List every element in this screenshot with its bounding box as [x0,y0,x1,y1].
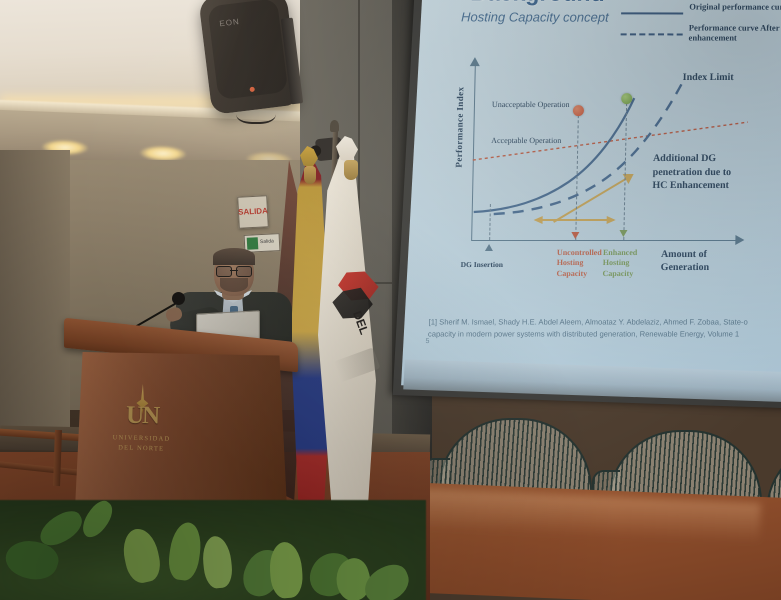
dg-insertion-label: DG Insertion [461,260,504,269]
enhanced-hc-arrow-icon [619,230,627,237]
original-performance-curve [474,98,635,212]
citation-line-2: capacity in modern power systems with di… [428,329,781,341]
acceptable-operation-label: Acceptable Operation [491,136,561,145]
x-axis-title: Amount ofGeneration [661,248,710,274]
emergency-sign-text: Salida [260,240,274,246]
university-logo: UN UNIVERSIDADDEL NORTE [113,387,171,450]
legend-label: Original performance curve [689,2,781,12]
dg-insertion-arrow-icon [485,244,493,251]
span-arrow-right-icon [607,216,616,224]
presentation-slide: Background Hosting Capacity concept Orig… [401,0,781,398]
index-limit-label: Index Limit [683,72,734,83]
legend-item: Performance curve After HC enhancement [620,24,781,52]
slide-title: Background [470,0,605,7]
projection-screen: Background Hosting Capacity concept Orig… [401,0,781,398]
hosting-capacity-chart: Performance Index [432,64,781,294]
speaker-cable [236,100,276,124]
legend-swatch-solid [621,12,683,14]
slide-subtitle: Hosting Capacity concept [461,9,609,24]
chart-legend: Original performance curve Performance c… [620,3,781,52]
presenter-hair [213,248,255,265]
flag-logo-text: DEL [350,309,371,336]
unacceptable-operation-label: Unacceptable Operation [492,100,570,109]
span-arrow-left-icon [534,216,543,224]
university-flag-tassel [344,160,358,180]
running-person-icon [247,237,259,250]
uncontrolled-hc-arrow-icon [571,232,579,239]
eyeglass-lens [236,266,252,277]
left-wall [0,150,70,440]
exit-sign-text: SALIDA [242,200,263,223]
microphone-icon [172,292,185,305]
photograph-scene: EON SALIDA Salida Background Hosting Cap… [0,0,781,600]
uncontrolled-hosting-capacity-label: UncontrolledHostingCapacity [556,248,601,279]
citation-line-1: [1] Sherif M. Ismael, Shady H.E. Abdel A… [428,317,781,329]
exit-sign: SALIDA [237,195,269,229]
presenter-beard [220,278,248,292]
enhanced-hosting-capacity-label: EnhancedHostingCapacity [602,248,637,279]
enhanced-performance-curve [494,78,685,214]
eyeglasses-icon [216,266,252,275]
slide-number: 5 [425,338,429,345]
legend-swatch-dashed [621,33,683,35]
legend-label: Performance curve After HC enhancement [688,23,781,43]
flagpole-finial [330,120,339,132]
logo-wordmark: UNIVERSIDADDEL NORTE [107,433,175,454]
additional-dg-penetration-label: Additional DGpenetration due toHC Enhanc… [652,152,731,192]
colombian-flag-tassel [304,166,316,184]
speaker-grill [207,0,288,100]
legend-item: Original performance curve [621,3,781,24]
eyeglass-lens [216,266,232,277]
logo-monogram: UN [114,401,171,430]
